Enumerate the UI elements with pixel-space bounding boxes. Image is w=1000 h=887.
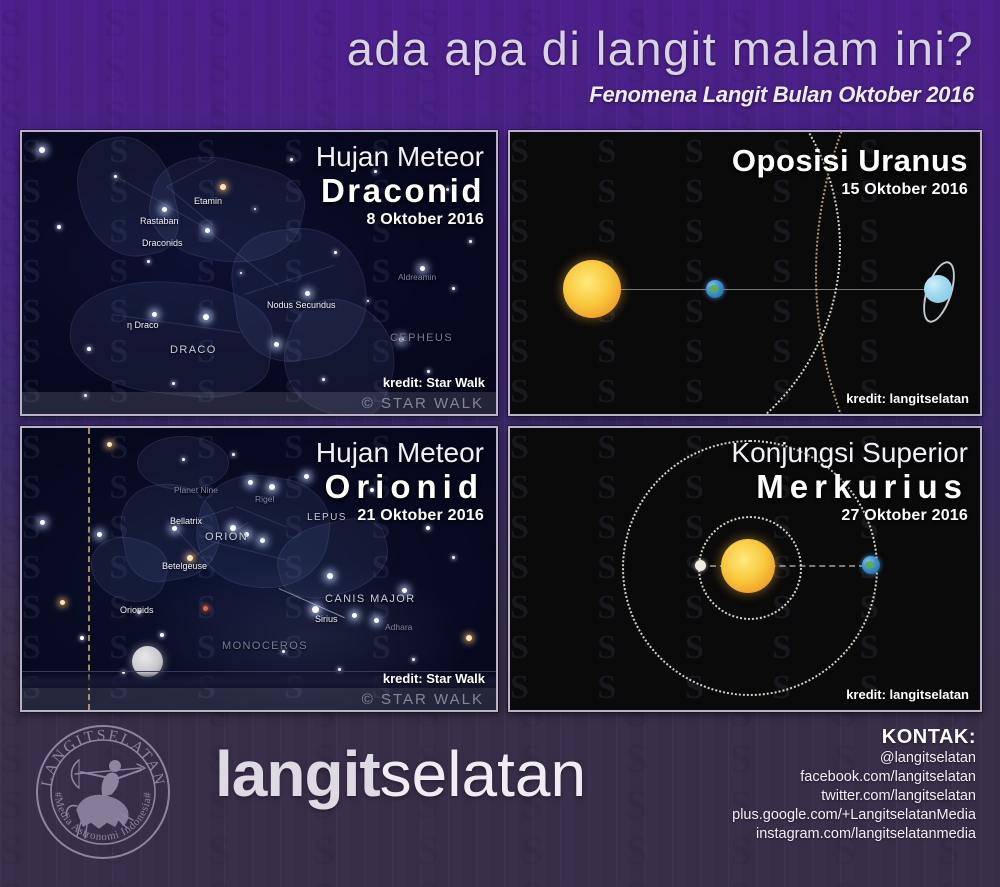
star-sirius: [312, 606, 319, 613]
star-generic: [39, 147, 45, 153]
earth: [862, 556, 880, 574]
infographic-poster: S S S S S S S S S S S S S S S S S S S S …: [0, 0, 1000, 887]
panel-draconid[interactable]: S S S S S S S S S S S S S S S S S S S S …: [20, 130, 498, 416]
star-label: Sirius: [315, 614, 338, 624]
constellation-label: CEPHEUS: [390, 332, 453, 344]
panel-date: 27 Oktober 2016: [731, 506, 968, 526]
star-generic: [240, 272, 242, 274]
star-generic: [322, 378, 325, 381]
starwalk-watermark: © STAR WALK: [362, 691, 484, 708]
star-generic: [427, 370, 430, 373]
star-generic: [114, 175, 117, 178]
panel-title-uranus: Oposisi Uranus 15 Oktober 2016: [732, 142, 968, 200]
poster-footer: LANGITSELATAN #Media Astronomi Indonesia…: [0, 707, 1000, 887]
star-generic: [97, 532, 102, 537]
contact-heading: KONTAK:: [732, 725, 976, 749]
panel-kicker: Hujan Meteor: [316, 142, 484, 172]
star-adhara: [374, 618, 379, 623]
starwalk-watermark: © STAR WALK: [362, 395, 484, 412]
star-label: η Draco: [127, 320, 159, 330]
star-generic: [452, 556, 455, 559]
constellation-label: DRACO: [170, 344, 217, 356]
star-rastaban: [162, 207, 167, 212]
constellation-label: CANIS MAJOR: [325, 593, 416, 605]
star-generic: [57, 225, 61, 229]
langitselatan-seal-logo: LANGITSELATAN #Media Astronomi Indonesia…: [33, 722, 173, 862]
star-generic: [412, 658, 415, 661]
star-generic: [87, 347, 91, 351]
star-generic: [203, 314, 209, 320]
panel-title-merkurius: Konjungsi Superior Merkurius 27 Oktober …: [731, 438, 968, 526]
contact-facebook[interactable]: facebook.com/langitselatan: [732, 768, 976, 787]
star-label: Planet Nine: [174, 485, 218, 495]
star-orion-belt: [260, 538, 265, 543]
star-generic: [160, 633, 164, 637]
panel-credit: kredit: Star Walk: [383, 671, 485, 686]
star-generic: [352, 613, 357, 618]
panel-headline: Oposisi Uranus: [732, 142, 968, 180]
star-generic: [203, 606, 208, 611]
panel-title-orionid: Hujan Meteor Orionid 21 Oktober 2016: [316, 438, 484, 526]
star-label: Nodus Secundus: [267, 300, 336, 310]
planet-nine-disc: [137, 436, 229, 490]
panel-credit: kredit: langitselatan: [846, 391, 969, 406]
star-label: Bellatrix: [170, 516, 202, 526]
sun: [563, 260, 621, 318]
star-alderamin: [420, 266, 425, 271]
star-generic: [466, 635, 472, 641]
star-label: Etamin: [194, 196, 222, 206]
panel-credit: kredit: Star Walk: [383, 375, 485, 390]
star-generic: [40, 520, 45, 525]
panel-orionid[interactable]: S S S S S S S S S S S S S S S S S S S S …: [20, 426, 498, 712]
star-label: Betelgeuse: [162, 561, 207, 571]
star-label: Adhara: [385, 622, 412, 632]
star-nodus-secundus: [305, 291, 310, 296]
star-generic: [107, 442, 112, 447]
panel-date: 21 Oktober 2016: [316, 506, 484, 526]
star-generic: [334, 251, 337, 254]
star-rigel: [269, 484, 275, 490]
uranus: [924, 275, 952, 303]
star-label: Draconids: [142, 238, 183, 248]
panel-date: 15 Oktober 2016: [732, 180, 968, 200]
star-label: Rastaban: [140, 216, 179, 226]
star-generic: [367, 300, 369, 302]
star-generic: [327, 573, 333, 579]
constellation-label: ORION: [205, 531, 248, 543]
star-generic: [290, 158, 293, 161]
star-generic: [80, 636, 84, 640]
constellation-label: MONOCEROS: [222, 640, 308, 652]
star-generic: [274, 342, 279, 347]
panel-headline: Merkurius: [731, 468, 968, 506]
page-title: ada apa di langit malam ini?: [347, 22, 974, 76]
mercury: [695, 560, 706, 571]
contact-block: KONTAK: @langitselatan facebook.com/lang…: [732, 725, 976, 844]
star-generic: [248, 480, 253, 485]
sun: [721, 539, 775, 593]
brand-wordmark: langitselatan: [215, 739, 586, 809]
panel-date: 8 Oktober 2016: [316, 210, 484, 230]
star-eta-draco: [152, 312, 157, 317]
contact-twitter[interactable]: twitter.com/langitselatan: [732, 787, 976, 806]
panel-uranus[interactable]: S S S S S S S S S S S S S S S S S S S S …: [508, 130, 982, 416]
panel-title-draconid: Hujan Meteor Draconid 8 Oktober 2016: [316, 142, 484, 230]
star-label: Orionids: [120, 605, 154, 615]
star-generic: [452, 287, 455, 290]
contact-googleplus[interactable]: plus.google.com/+LangitselatanMedia: [732, 806, 976, 825]
brand-bold: langit: [215, 738, 380, 810]
panel-kicker: Konjungsi Superior: [731, 438, 968, 468]
ecliptic-line: [88, 428, 90, 710]
panel-merkurius[interactable]: S S S S S S S S S S S S S S S S S S S S …: [508, 426, 982, 712]
star-generic: [304, 474, 309, 479]
star-generic: [232, 453, 235, 456]
star-label: Aldreamin: [398, 272, 436, 282]
star-generic: [254, 208, 256, 210]
panel-headline: Orionid: [316, 468, 484, 506]
contact-handle[interactable]: @langitselatan: [732, 749, 976, 768]
poster-header: ada apa di langit malam ini? Fenomena La…: [0, 0, 1000, 120]
star-bellatrix: [172, 526, 177, 531]
earth: [706, 280, 724, 298]
star-generic: [60, 600, 65, 605]
opposition-sight-line: [598, 289, 938, 290]
svg-text:LANGITSELATAN: LANGITSELATAN: [38, 727, 168, 788]
star-generic: [469, 240, 472, 243]
star-generic: [147, 260, 150, 263]
star-label: Rigel: [255, 494, 274, 504]
star-generic: [172, 382, 175, 385]
star-etamin: [220, 184, 226, 190]
seal-top-text: LANGITSELATAN: [38, 727, 168, 788]
panel-credit: kredit: langitselatan: [846, 687, 969, 702]
star-generic: [182, 458, 185, 461]
panel-kicker: Hujan Meteor: [316, 438, 484, 468]
star-draconids-radiant: [205, 228, 210, 233]
contact-instagram[interactable]: instagram.com/langitselatanmedia: [732, 825, 976, 844]
page-subtitle: Fenomena Langit Bulan Oktober 2016: [589, 82, 974, 108]
brand-light: selatan: [380, 738, 586, 810]
panel-headline: Draconid: [316, 172, 484, 210]
star-generic: [426, 526, 430, 530]
